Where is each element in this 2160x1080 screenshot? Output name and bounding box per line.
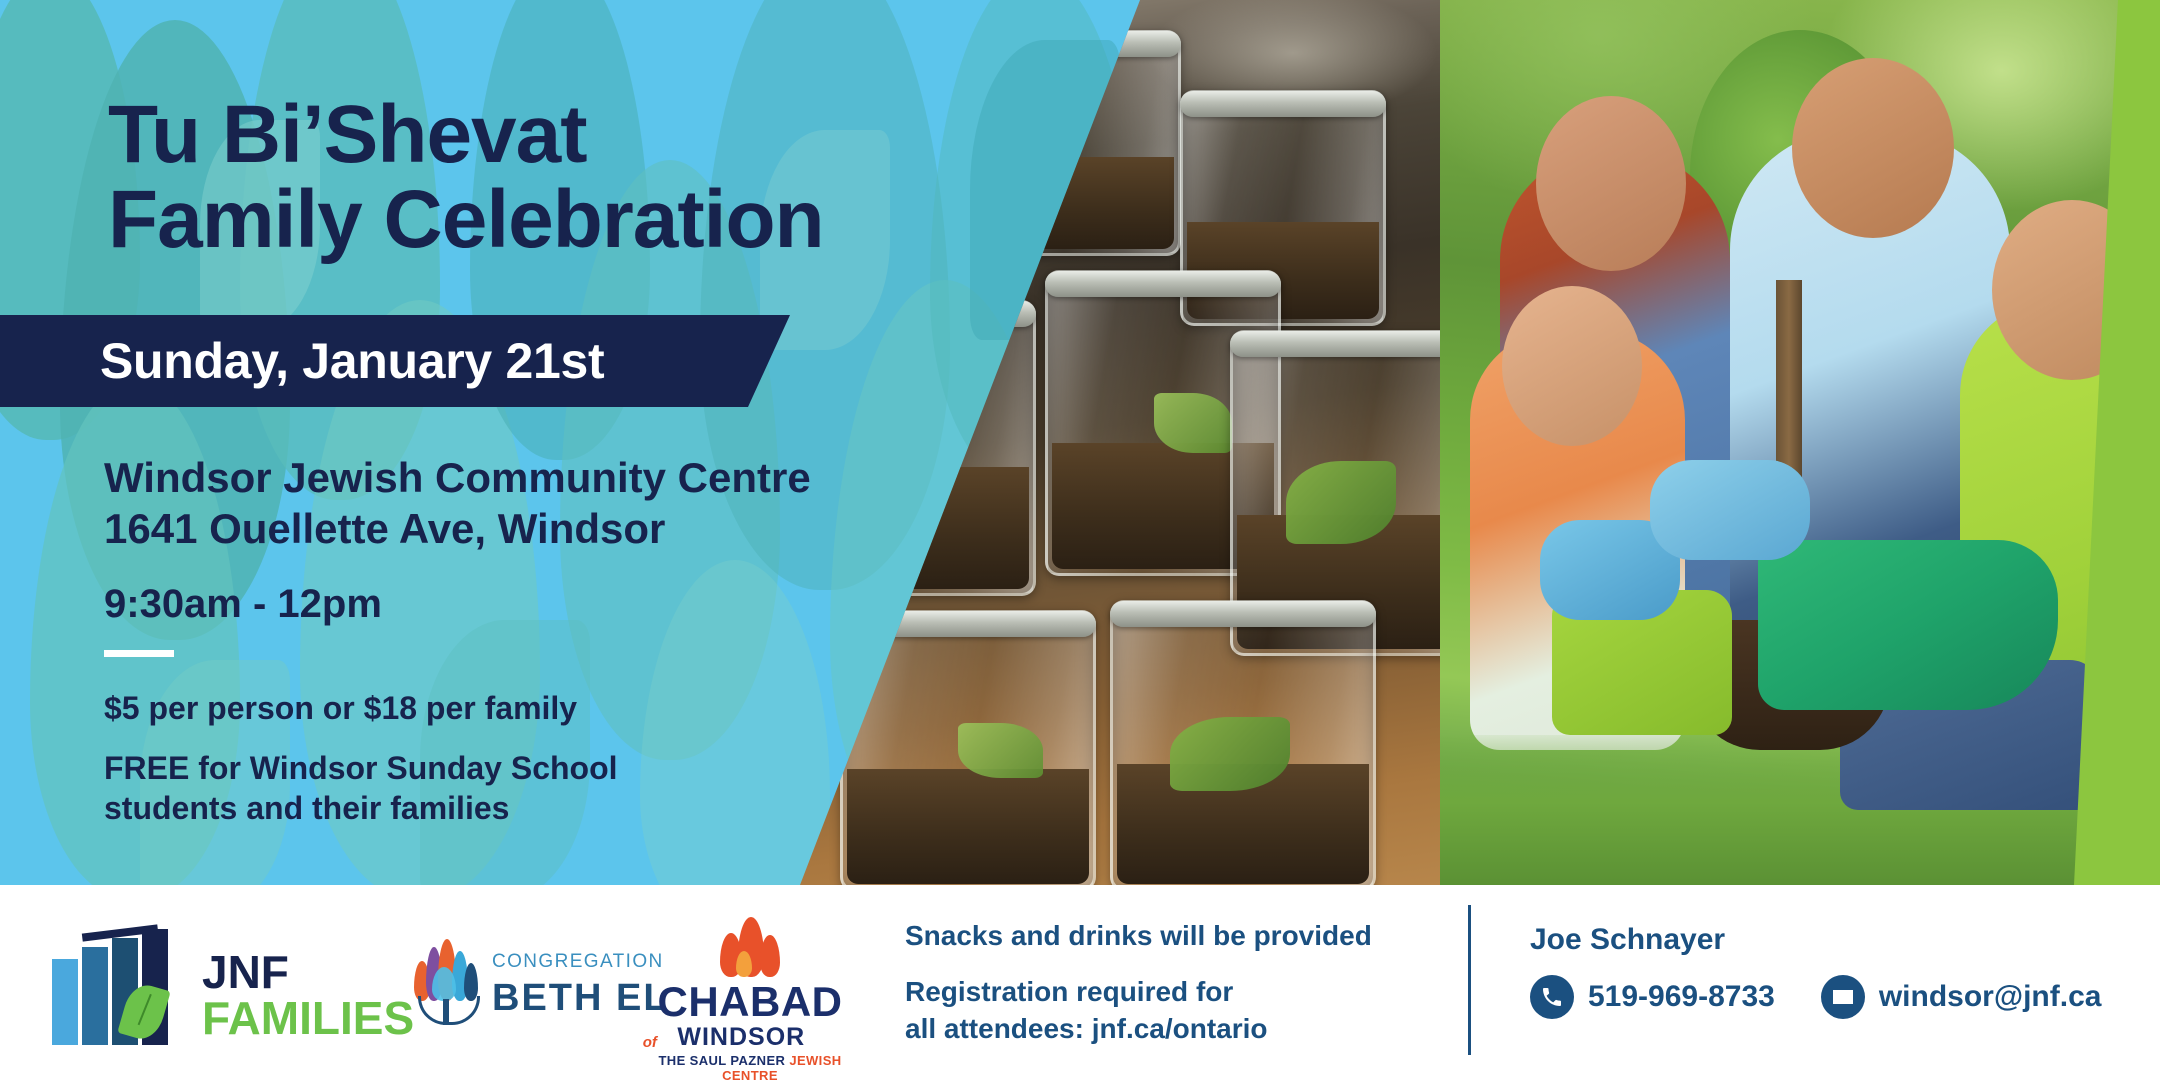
date-text: Sunday, January 21st	[100, 332, 604, 390]
email-icon	[1821, 975, 1865, 1019]
price-text: $5 per person or $18 per family	[104, 690, 577, 727]
menorah-base	[418, 996, 480, 1025]
jnf-families-logo: JNF FAMILIES	[52, 909, 372, 1049]
venue-name: Windsor Jewish Community Centre	[104, 452, 1104, 503]
venue-block: Windsor Jewish Community Centre 1641 Oue…	[104, 452, 1104, 554]
flame-menorah-icon	[410, 939, 482, 1027]
jnf-building-bars-icon	[52, 927, 180, 1045]
family-planting-photo	[1440, 0, 2160, 885]
title-line-2: Family Celebration	[108, 177, 1108, 262]
jnf-families-wordmark: FAMILIES	[202, 991, 414, 1045]
jar-sprout	[1170, 717, 1290, 791]
free-line-1: FREE for Windsor Sunday School	[104, 748, 744, 788]
chabad-of-windsor-row: of WINDSOR	[630, 1023, 870, 1052]
gardening-glove	[1650, 460, 1810, 560]
free-line-2: students and their families	[104, 788, 744, 828]
flame-part	[760, 935, 780, 977]
mother-head	[1536, 96, 1686, 271]
girl-head	[1502, 286, 1642, 446]
mason-jar	[1110, 600, 1376, 885]
contact-name: Joe Schnayer	[1530, 923, 2130, 957]
title-line-1: Tu Bi’Shevat	[108, 92, 1108, 177]
phone-number[interactable]: 519-969-8733	[1588, 980, 1775, 1014]
footer-divider	[1468, 905, 1471, 1055]
hero-section: Tu Bi’Shevat Family Celebration Sunday, …	[0, 0, 2160, 885]
chabad-subtitle-a: THE SAUL PAZNER	[658, 1053, 789, 1068]
jar-rim	[1180, 91, 1386, 117]
jar-rim	[1110, 601, 1376, 627]
jar-sprout	[1154, 393, 1232, 453]
jar-sprout	[1286, 461, 1396, 544]
snacks-text: Snacks and drinks will be provided	[905, 917, 1465, 955]
chabad-of-text: of	[643, 1034, 657, 1051]
footer-info-block: Snacks and drinks will be provided Regis…	[905, 917, 1465, 1048]
contact-block: Joe Schnayer 519-969-8733 windsor@jnf.ca	[1530, 923, 2130, 1019]
chabad-city-text: WINDSOR	[677, 1023, 805, 1052]
registration-line-2: all attendees: jnf.ca/ontario	[905, 1010, 1465, 1048]
page-title: Tu Bi’Shevat Family Celebration	[108, 92, 1108, 263]
contact-row: 519-969-8733 windsor@jnf.ca	[1530, 975, 2130, 1019]
email-address[interactable]: windsor@jnf.ca	[1879, 980, 2102, 1014]
date-banner: Sunday, January 21st	[0, 315, 790, 407]
jnf-bar	[52, 959, 78, 1045]
event-flyer: Tu Bi’Shevat Family Celebration Sunday, …	[0, 0, 2160, 1080]
father-head	[1792, 58, 1954, 238]
green-wheelbarrow	[1758, 540, 2058, 710]
chabad-wordmark: CHABAD	[630, 981, 870, 1023]
footer-section: JNF FAMILIES CONGREGATION BETH EL	[0, 885, 2160, 1080]
divider-rule	[104, 650, 174, 657]
event-time: 9:30am - 12pm	[104, 582, 382, 627]
jar-sprout	[958, 723, 1043, 778]
chabad-subtitle: THE SAUL PAZNER JEWISH CENTRE	[630, 1053, 870, 1080]
jar-soil	[847, 769, 1089, 885]
jnf-bar	[82, 947, 108, 1045]
venue-address: 1641 Ouellette Ave, Windsor	[104, 503, 1104, 554]
registration-line-1: Registration required for	[905, 973, 1465, 1011]
jar-rim	[1045, 271, 1281, 297]
free-admission-note: FREE for Windsor Sunday School students …	[104, 748, 744, 828]
chabad-windsor-logo: CHABAD of WINDSOR THE SAUL PAZNER JEWISH…	[630, 915, 870, 1065]
chabad-flame-icon	[714, 915, 786, 977]
phone-icon	[1530, 975, 1574, 1019]
